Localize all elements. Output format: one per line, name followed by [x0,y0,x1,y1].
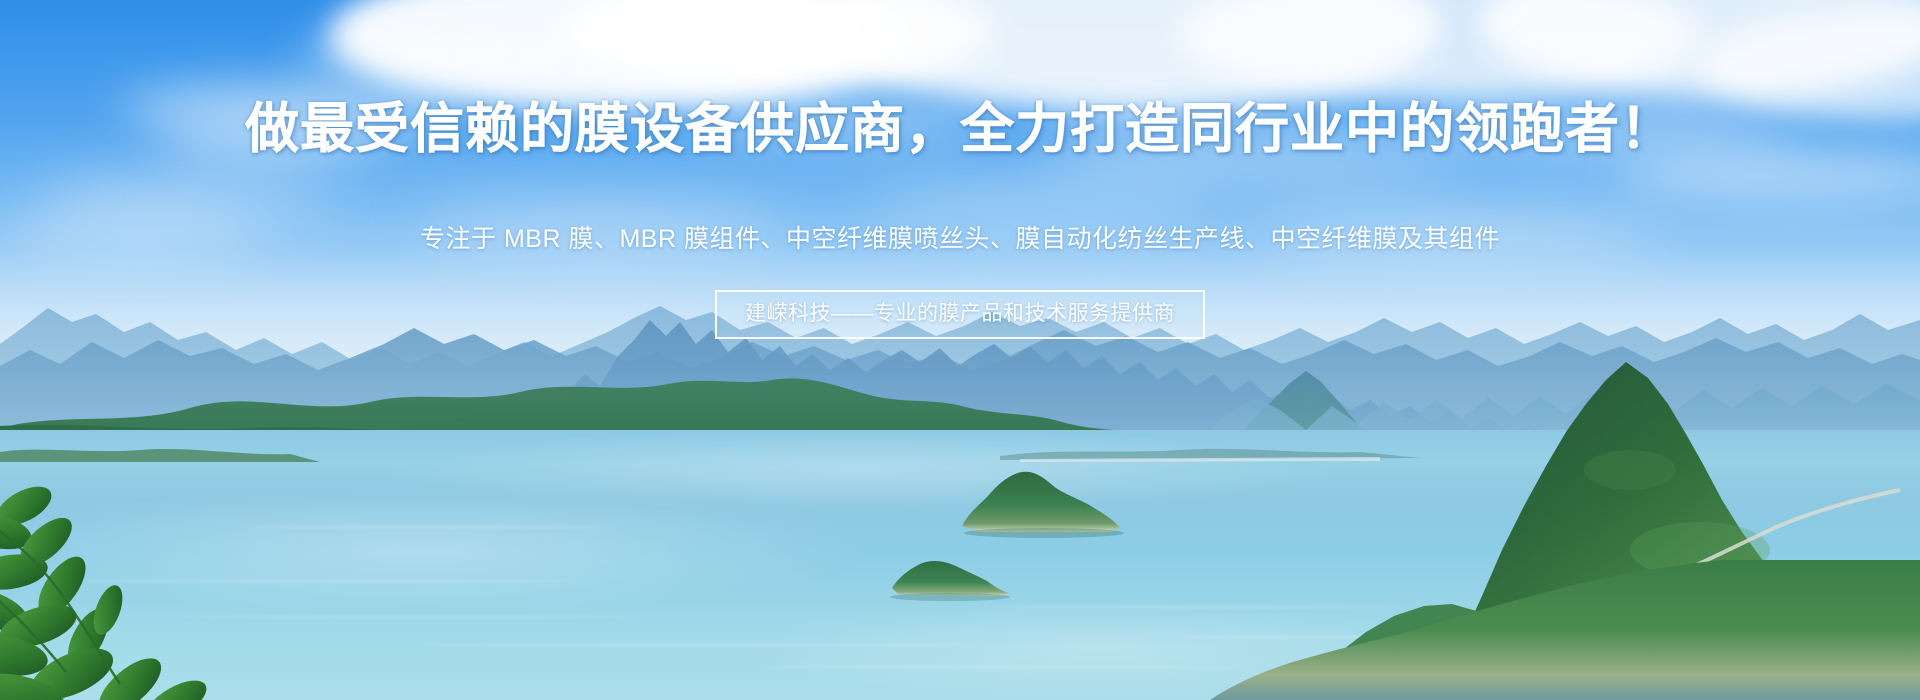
banner-content: 做最受信赖的膜设备供应商，全力打造同行业中的领跑者！ 专注于 MBR 膜、MBR… [0,0,1920,700]
banner-tagline-wrapper: 建嵘科技——专业的膜产品和技术服务提供商 [0,290,1920,339]
banner-tagline-box: 建嵘科技——专业的膜产品和技术服务提供商 [715,290,1205,339]
hero-banner: 做最受信赖的膜设备供应商，全力打造同行业中的领跑者！ 专注于 MBR 膜、MBR… [0,0,1920,700]
banner-subheadline: 专注于 MBR 膜、MBR 膜组件、中空纤维膜喷丝头、膜自动化纺丝生产线、中空纤… [0,222,1920,256]
banner-headline: 做最受信赖的膜设备供应商，全力打造同行业中的领跑者！ [0,98,1920,160]
